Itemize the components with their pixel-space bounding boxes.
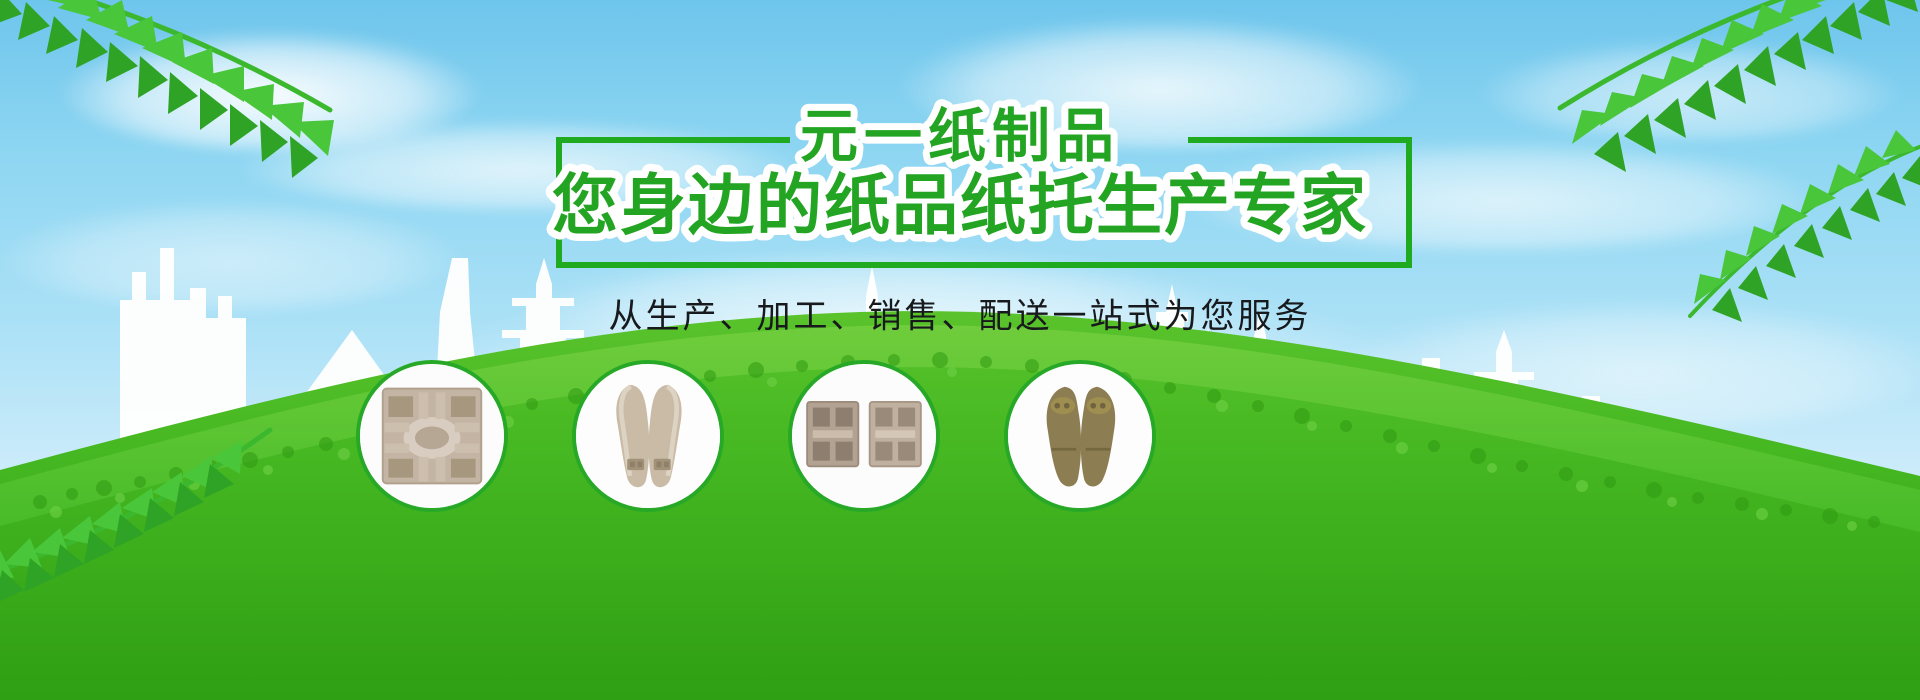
product-circle-4[interactable] (1004, 360, 1156, 512)
product-circle-3[interactable] (788, 360, 940, 512)
headline-line-2: 您身边的纸品纸托生产专家 (552, 167, 1368, 244)
paper-pulp-shoe-tree-pair-icon (576, 364, 720, 508)
headline-block: 元一纸制品 您身边的纸品纸托生产专家 从生产、加工、销售、配送一站式为您服务 (0, 0, 1920, 360)
product-circle-row (0, 350, 1920, 530)
headline-subtitle: 从生产、加工、销售、配送一站式为您服务 (609, 297, 1312, 337)
paper-pulp-corner-protectors-icon (792, 364, 936, 508)
headline-frame-and-text: 元一纸制品 您身边的纸品纸托生产专家 从生产、加工、销售、配送一站式为您服务 (0, 0, 1920, 360)
product-circle-2[interactable] (572, 360, 724, 512)
headline-line-1: 元一纸制品 (800, 102, 1120, 170)
promotional-banner: 元一纸制品 您身边的纸品纸托生产专家 从生产、加工、销售、配送一站式为您服务 (0, 0, 1920, 700)
paper-pulp-square-tray-icon (360, 364, 504, 508)
product-circle-1[interactable] (356, 360, 508, 512)
paper-pulp-shoe-insert-pair-icon (1008, 364, 1152, 508)
